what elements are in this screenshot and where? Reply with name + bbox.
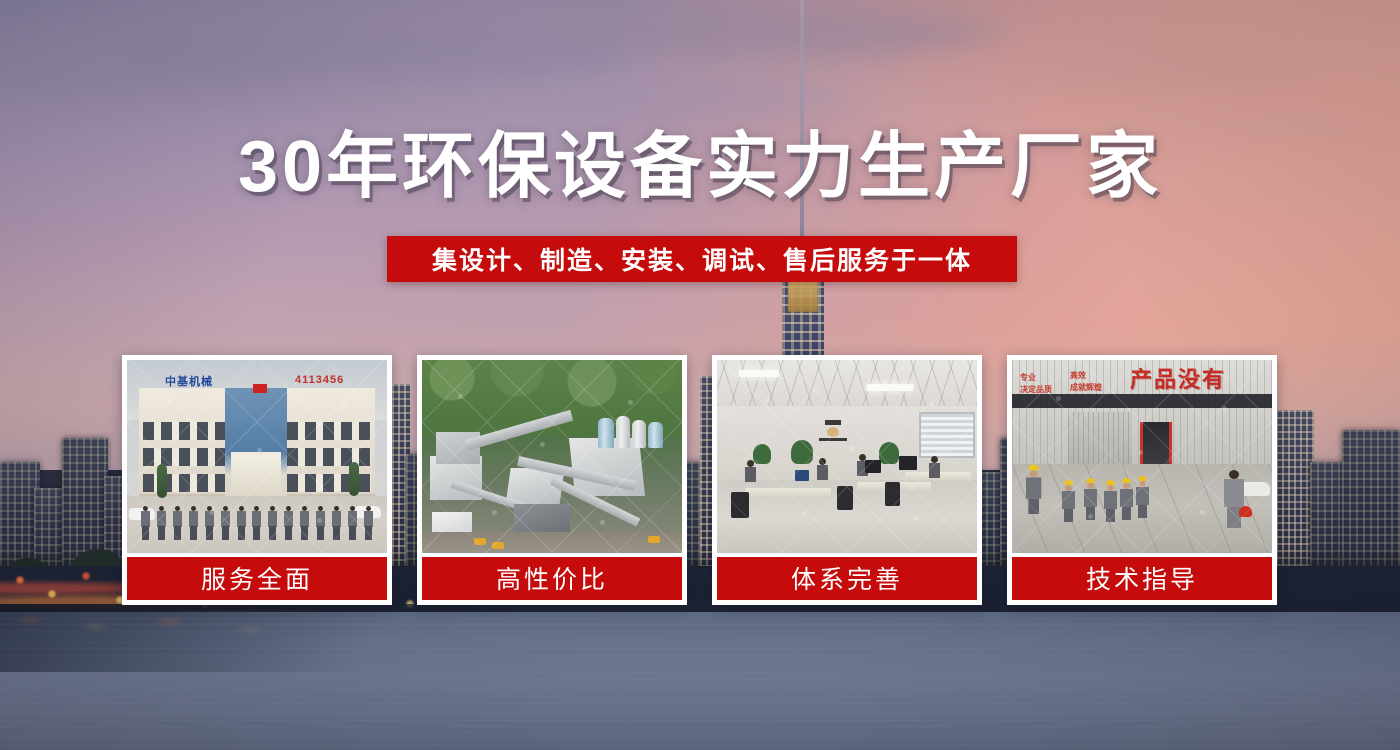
staff-lineup	[141, 506, 373, 542]
feature-card-list: 中基机械 4113456	[122, 355, 1277, 605]
subtitle-text: 集设计、制造、安装、调试、售后服务于一体	[432, 241, 972, 277]
office-team-photo	[717, 360, 977, 553]
building-phone-label: 4113456	[295, 374, 344, 388]
factory-workers-training-photo: 产品没有 专业 决定品质 高效 成就辉煌	[1012, 360, 1272, 553]
banner-content: 30年环保设备实力生产厂家 集设计、制造、安装、调试、售后服务于一体 中基机械	[0, 0, 1400, 750]
card-caption: 高性价比	[422, 557, 682, 600]
factory-sign-large: 产品没有	[1130, 362, 1226, 394]
card-caption-label: 技术指导	[1086, 560, 1198, 596]
aerial-production-plant-photo	[422, 360, 682, 553]
feature-card[interactable]: 产品没有 专业 决定品质 高效 成就辉煌	[1007, 355, 1277, 605]
window-blinds	[919, 412, 975, 458]
feature-card[interactable]: 中基机械 4113456	[122, 355, 392, 605]
factory-sign-small: 成就辉煌	[1070, 382, 1102, 393]
company-headquarters-photo: 中基机械 4113456	[127, 360, 387, 553]
card-caption: 体系完善	[717, 557, 977, 600]
red-helmet-icon	[1239, 506, 1252, 517]
subtitle-banner: 集设计、制造、安装、调试、售后服务于一体	[387, 236, 1017, 282]
card-caption: 技术指导	[1012, 557, 1272, 600]
page-title: 30年环保设备实力生产厂家	[0, 131, 1400, 203]
card-caption-label: 体系完善	[791, 560, 903, 596]
card-caption-label: 服务全面	[201, 560, 313, 596]
card-caption: 服务全面	[127, 557, 387, 600]
factory-sign-small: 高效	[1070, 370, 1086, 381]
factory-sign-small: 专业	[1020, 372, 1036, 383]
feature-card[interactable]: 高性价比	[417, 355, 687, 605]
feature-card[interactable]: 体系完善	[712, 355, 982, 605]
building-sign-label: 中基机械	[165, 374, 285, 388]
card-caption-label: 高性价比	[496, 560, 608, 596]
wall-decal	[815, 418, 851, 448]
